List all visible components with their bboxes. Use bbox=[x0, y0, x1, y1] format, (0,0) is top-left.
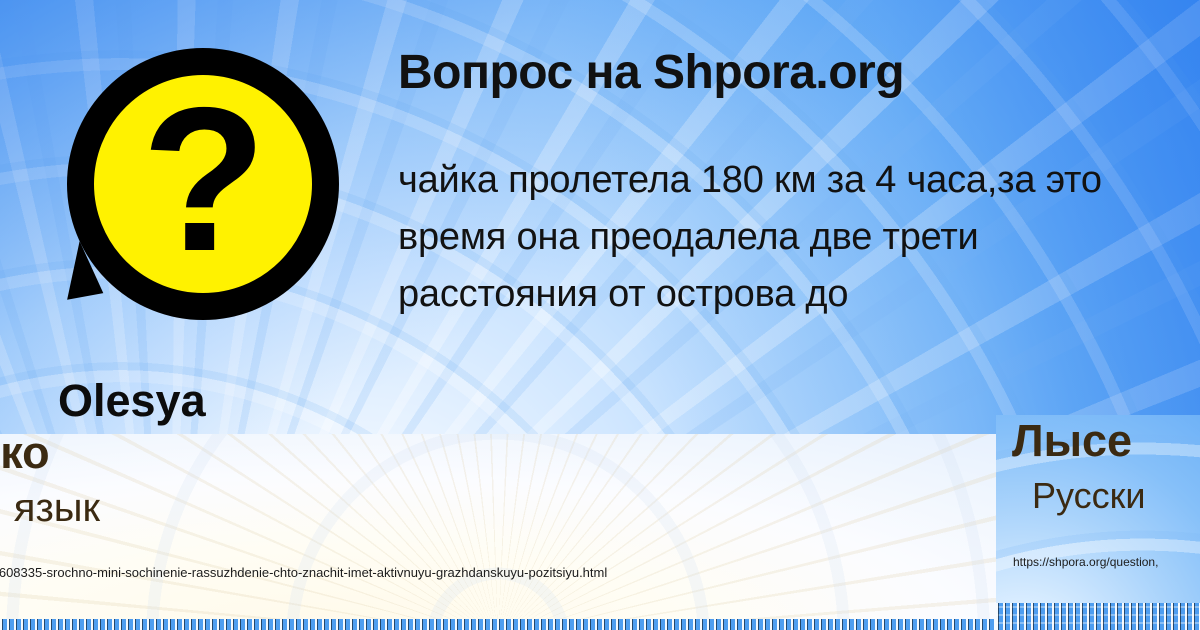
question-text: чайка пролетела 180 км за 4 часа,за это … bbox=[398, 152, 1158, 323]
author-last-name: енко bbox=[0, 430, 50, 475]
page-title: Вопрос на Shpora.org bbox=[398, 48, 904, 98]
source-url-left[interactable]: /3608335-srochno-mini-sochinenie-rassuzh… bbox=[0, 566, 607, 579]
subject-label-left: ий язык bbox=[0, 488, 100, 528]
subject-label-right: Русски bbox=[1032, 478, 1145, 514]
question-mark-glyph: ? bbox=[67, 48, 339, 320]
share-card: ? Вопрос на Shpora.org чайка пролетела 1… bbox=[0, 0, 1200, 630]
author-first-name: Olesya bbox=[58, 378, 206, 423]
dotted-strip-left bbox=[0, 619, 996, 630]
dotted-strip-right bbox=[996, 603, 1200, 630]
cream-panel bbox=[0, 434, 996, 630]
author-last-name-right: Лысе bbox=[1012, 418, 1132, 463]
question-mark-speech-bubble-icon: ? bbox=[55, 48, 355, 358]
cream-panel-arcs bbox=[0, 434, 996, 630]
source-url-right[interactable]: https://shpora.org/question, bbox=[1013, 556, 1158, 568]
